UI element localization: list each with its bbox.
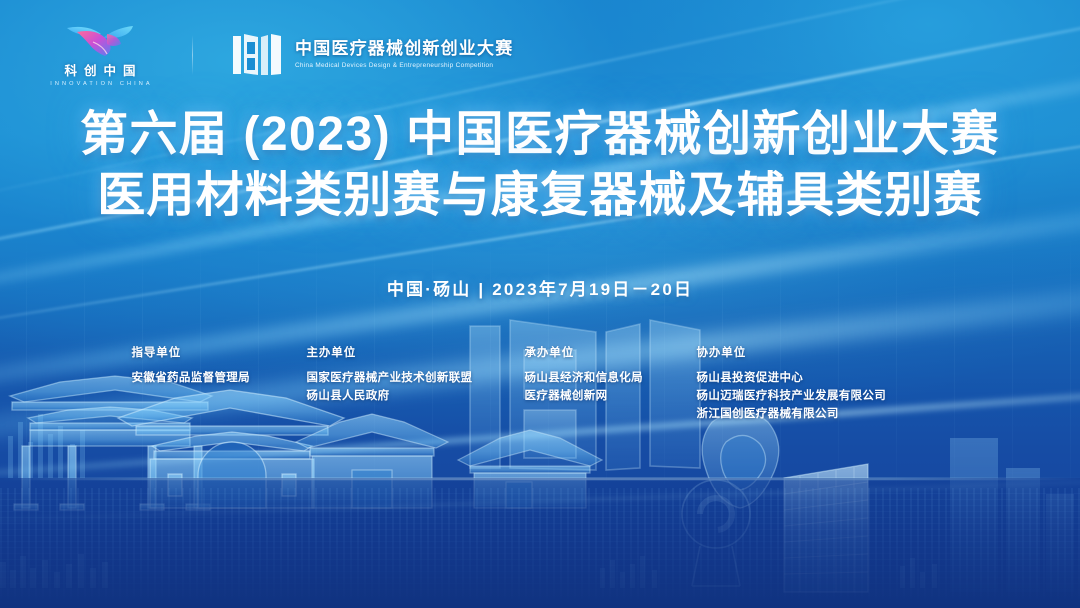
- credit-item: 浙江国创医疗器械有限公司: [697, 405, 957, 423]
- credit-item: 砀山县经济和信息化局: [525, 369, 697, 387]
- logo-competition-en: China Medical Devices Design & Entrepren…: [295, 62, 513, 69]
- credit-heading: 承办单位: [525, 344, 697, 360]
- open-book-door-mark-icon: [231, 32, 283, 78]
- left-skyline-bars-decor: [8, 414, 85, 478]
- light-ray-icon: [0, 464, 1080, 533]
- credit-item: 安徽省药品监督管理局: [132, 369, 307, 387]
- page-title-line1: 第六届 (2023) 中国医疗器械创新创业大赛: [0, 104, 1080, 165]
- credit-item: 砀山迈瑞医疗科技产业发展有限公司: [697, 387, 957, 405]
- ornamental-sculpture-icon: [702, 411, 779, 508]
- light-rays-decor: [0, 0, 1080, 608]
- credit-item: 砀山县投资促进中心: [697, 369, 957, 387]
- logo-innovation-china[interactable]: 科创中国 INNOVATION CHINA: [46, 22, 154, 87]
- waterline-decor: [0, 478, 1080, 480]
- header-logos: 科创中国 INNOVATION CHINA 中国医疗器械创新创业大赛 China…: [46, 22, 513, 87]
- credits-block: 指导单位 安徽省药品监督管理局 主办单位 国家医疗器械产业技术创新联盟 砀山县人…: [0, 344, 1080, 423]
- circular-emblem-monument-icon: [682, 480, 750, 586]
- pavilion-icon: [296, 414, 448, 508]
- distant-city-strip-decor: [0, 554, 937, 588]
- phoenix-bird-icon: [63, 22, 137, 58]
- water-band-decor: [0, 478, 1080, 608]
- poster-banner: 科创中国 INNOVATION CHINA 中国医疗器械创新创业大赛 China…: [0, 0, 1080, 608]
- logo-competition[interactable]: 中国医疗器械创新创业大赛 China Medical Devices Desig…: [231, 32, 513, 78]
- right-building-block-decor: [950, 438, 1074, 592]
- logo-divider: [192, 35, 193, 75]
- credit-item: 国家医疗器械产业技术创新联盟: [307, 369, 525, 387]
- logo-competition-cn: 中国医疗器械创新创业大赛: [295, 40, 513, 59]
- credit-heading: 主办单位: [307, 344, 525, 360]
- credit-column-host: 主办单位 国家医疗器械产业技术创新联盟 砀山县人民政府: [307, 344, 525, 423]
- credit-item: 砀山县人民政府: [307, 387, 525, 405]
- event-location-date: 中国·砀山 | 2023年7月19日－20日: [0, 275, 1080, 300]
- credit-heading: 指导单位: [132, 344, 307, 360]
- logo-innovation-china-en: INNOVATION CHINA: [47, 81, 153, 87]
- page-title-line2: 医用材料类别赛与康复器械及辅具类别赛: [0, 165, 1080, 226]
- logo-innovation-china-cn: 科创中国: [57, 60, 142, 79]
- credit-column-guidance: 指导单位 安徽省药品监督管理局: [132, 344, 307, 423]
- credit-item: 医疗器械创新网: [525, 387, 697, 405]
- credit-column-coorganizer: 协办单位 砀山县投资促进中心 砀山迈瑞医疗科技产业发展有限公司 浙江国创医疗器械…: [697, 344, 957, 423]
- credit-column-organizer: 承办单位 砀山县经济和信息化局 医疗器械创新网: [525, 344, 697, 423]
- water-reflection-decor: [0, 488, 1080, 608]
- pavilion-cluster-icon: [458, 430, 602, 508]
- title-block: 第六届 (2023) 中国医疗器械创新创业大赛 医用材料类别赛与康复器械及辅具类…: [0, 104, 1080, 227]
- modern-tower-icon: [784, 464, 868, 592]
- credit-heading: 协办单位: [697, 344, 957, 360]
